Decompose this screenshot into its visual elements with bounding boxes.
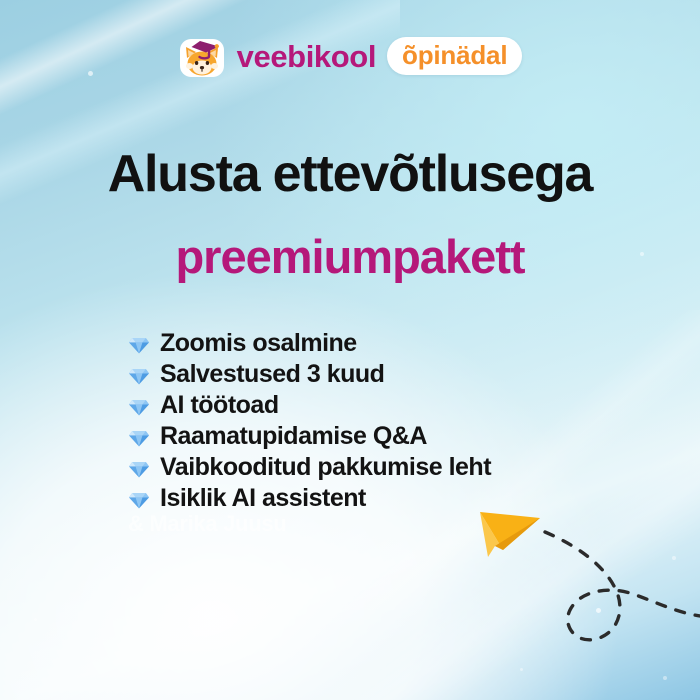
gem-icon bbox=[128, 490, 150, 510]
feature-label: Raamatupidamise Q&A bbox=[160, 424, 427, 449]
promo-poster: veebikool õpinädal Alusta ettevõtlusega … bbox=[0, 0, 700, 700]
sparkle-icon bbox=[672, 556, 676, 560]
feature-label: Salvestused 3 kuud bbox=[160, 362, 384, 387]
gem-icon bbox=[128, 459, 150, 479]
fox-graduate-icon bbox=[178, 32, 226, 80]
feature-label: Isiklik AI assistent bbox=[160, 486, 366, 511]
dashed-loop-trail-icon bbox=[545, 532, 700, 640]
list-item: Vaibkooditud pakkumise leht bbox=[128, 452, 640, 483]
study-week-badge: õpinädal bbox=[387, 37, 522, 75]
feature-list: Zoomis osalmine Salvestused 3 kuud bbox=[128, 328, 640, 514]
page-title: Alusta ettevõtlusega bbox=[0, 146, 700, 202]
gem-icon bbox=[128, 366, 150, 386]
list-item: Zoomis osalmine bbox=[128, 328, 640, 359]
gem-icon bbox=[128, 335, 150, 355]
feature-label: AI töötoad bbox=[160, 393, 279, 418]
sparkle-icon bbox=[596, 608, 601, 613]
sparkle-icon bbox=[520, 668, 523, 671]
list-item: Salvestused 3 kuud bbox=[128, 359, 640, 390]
brand-lockup: veebikool õpinädal bbox=[0, 32, 700, 80]
gem-icon bbox=[128, 428, 150, 448]
feature-label: Vaibkooditud pakkumise leht bbox=[160, 455, 491, 480]
brand-name: veebikool bbox=[237, 41, 376, 72]
list-item: AI töötoad bbox=[128, 390, 640, 421]
sparkle-icon bbox=[663, 676, 667, 680]
watermark-credit: & Marika Juusu bbox=[128, 513, 286, 535]
paper-plane-icon bbox=[480, 512, 540, 557]
list-item: Raamatupidamise Q&A bbox=[128, 421, 640, 452]
page-subtitle: preemiumpakett bbox=[0, 232, 700, 283]
gem-icon bbox=[128, 397, 150, 417]
paper-plane-decoration bbox=[470, 500, 700, 700]
list-item: Isiklik AI assistent bbox=[128, 483, 640, 514]
feature-label: Zoomis osalmine bbox=[160, 331, 357, 356]
sparkle-icon bbox=[34, 618, 37, 621]
